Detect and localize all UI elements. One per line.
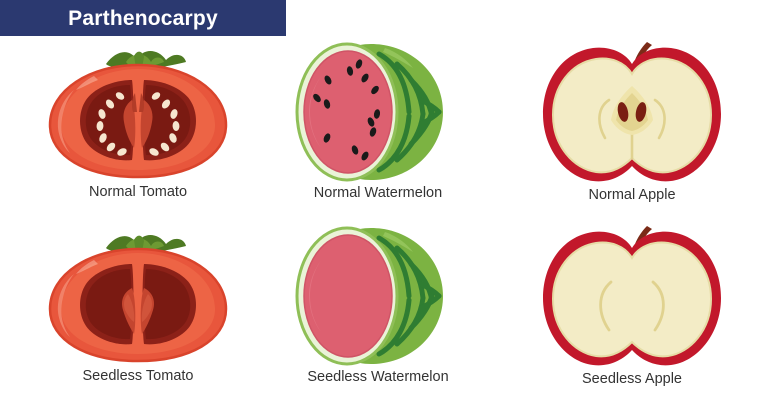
caption-normal-apple: Normal Apple <box>588 188 675 204</box>
normal-watermelon-illustration <box>293 38 463 186</box>
specimen-seedless-tomato: Seedless Tomato <box>10 222 266 385</box>
caption-seedless-tomato: Seedless Tomato <box>83 369 194 385</box>
tomato-body <box>50 65 226 177</box>
caption-seedless-apple: Seedless Apple <box>582 372 682 388</box>
tomato-body <box>50 249 226 361</box>
seedless-apple-illustration <box>535 222 730 374</box>
caption-normal-watermelon: Normal Watermelon <box>314 186 442 202</box>
specimen-seedless-apple: Seedless Apple <box>504 222 760 388</box>
seedless-watermelon-illustration <box>293 222 463 370</box>
watermelon-cut-face <box>297 44 397 180</box>
caption-seedless-watermelon: Seedless Watermelon <box>307 370 448 386</box>
apple-body <box>543 232 721 366</box>
parthenocarpy-infographic: Parthenocarpy <box>0 0 768 402</box>
watermelon-cut-face <box>297 228 397 364</box>
seedless-tomato-illustration <box>38 222 238 367</box>
normal-apple-illustration <box>535 38 730 190</box>
specimen-normal-apple: Normal Apple <box>504 38 760 204</box>
specimen-seedless-watermelon: Seedless Watermelon <box>250 222 506 386</box>
caption-normal-tomato: Normal Tomato <box>89 185 187 201</box>
specimen-normal-tomato: Normal Tomato <box>10 38 266 201</box>
specimen-grid: Normal Tomato <box>0 0 768 402</box>
specimen-normal-watermelon: Normal Watermelon <box>250 38 506 202</box>
normal-tomato-illustration <box>38 38 238 183</box>
